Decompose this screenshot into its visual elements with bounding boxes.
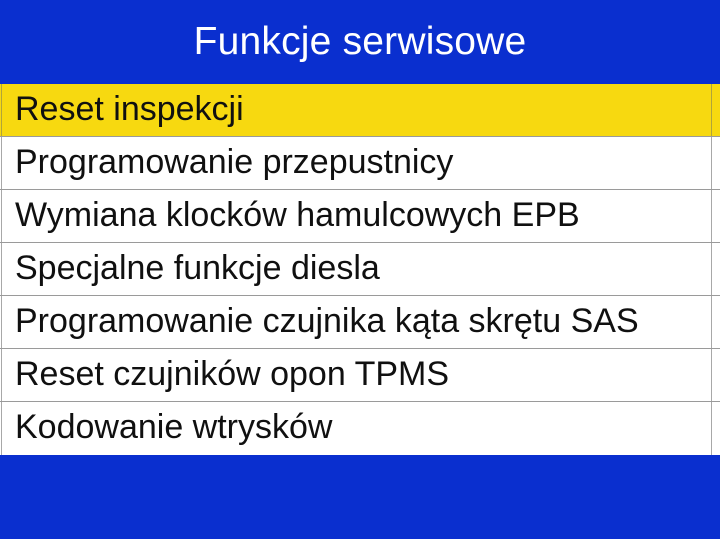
service-functions-list: Reset inspekcji Programowanie przepustni… [0, 84, 720, 455]
list-item[interactable]: Reset czujników opon TPMS [0, 349, 720, 402]
service-functions-screen: Funkcje serwisowe Reset inspekcji Progra… [0, 0, 720, 539]
list-item-label: Wymiana klocków hamulcowych EPB [0, 198, 580, 235]
list-item-label: Kodowanie wtrysków [0, 410, 332, 447]
list-item-label: Programowanie przepustnicy [0, 145, 453, 182]
list-item-label: Reset czujników opon TPMS [0, 357, 449, 394]
list-item[interactable]: Programowanie przepustnicy [0, 137, 720, 190]
list-item[interactable]: Reset inspekcji [0, 84, 720, 137]
list-item[interactable]: Kodowanie wtrysków [0, 402, 720, 455]
screen-footer: OK. 1/9 [0, 455, 720, 539]
list-item[interactable]: Specjalne funkcje diesla [0, 243, 720, 296]
list-item-label: Reset inspekcji [0, 92, 244, 129]
list-item-label: Specjalne funkcje diesla [0, 251, 380, 288]
list-item[interactable]: Wymiana klocków hamulcowych EPB [0, 190, 720, 243]
screen-header: Funkcje serwisowe [0, 0, 720, 84]
page-title: Funkcje serwisowe [194, 22, 527, 63]
list-item-label: Programowanie czujnika kąta skrętu SAS [0, 304, 639, 341]
list-item[interactable]: Programowanie czujnika kąta skrętu SAS [0, 296, 720, 349]
